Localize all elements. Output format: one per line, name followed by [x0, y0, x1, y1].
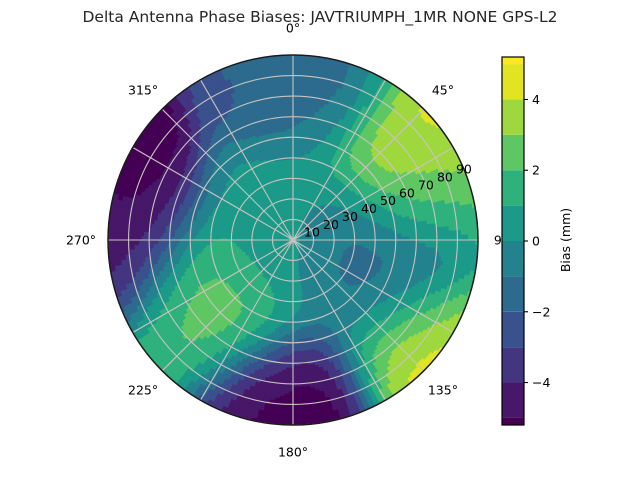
radial-label-10: 10 [304, 225, 320, 240]
colorbar-tick-label--2: −2 [532, 304, 550, 319]
colorbar-band-4 [502, 276, 524, 311]
azimuth-label-315: 315° [128, 83, 158, 98]
azimuth-label-270: 270° [66, 233, 96, 248]
colorbar-band-6 [502, 206, 524, 241]
page-title: Delta Antenna Phase Biases: JAVTRIUMPH_1… [83, 8, 558, 27]
colorbar-axis-label: Bias (mm) [558, 208, 573, 272]
colorbar-band-5 [502, 241, 524, 276]
colorbar-band-9 [502, 99, 524, 134]
colorbar-tick-label-2: 2 [532, 163, 540, 178]
colorbar-band-8 [502, 135, 524, 170]
azimuth-label-135: 135° [428, 382, 458, 397]
colorbar-band-7 [502, 170, 524, 205]
radial-label-40: 40 [361, 201, 377, 216]
azimuth-label-180: 180° [278, 445, 308, 460]
azimuth-label-45: 45° [432, 83, 454, 98]
colorbar-band-0 [502, 418, 524, 425]
polar-grid [108, 55, 478, 425]
azimuth-label-0: 0° [286, 21, 300, 36]
radial-label-60: 60 [399, 185, 415, 200]
radial-label-80: 80 [437, 170, 453, 185]
radial-label-30: 30 [342, 209, 358, 224]
colorbar-band-10 [502, 64, 524, 99]
radial-label-20: 20 [323, 217, 339, 232]
radial-label-90: 90 [456, 162, 472, 177]
colorbar-band-11 [502, 57, 524, 64]
colorbar-band-1 [502, 383, 524, 418]
colorbar-tick-label-0: 0 [532, 234, 540, 249]
colorbar-band-2 [502, 347, 524, 382]
colorbar-tick-label-4: 4 [532, 92, 540, 107]
colorbar-tick-label--4: −4 [532, 375, 550, 390]
radial-label-50: 50 [380, 193, 396, 208]
polar-contour-figure: Delta Antenna Phase Biases: JAVTRIUMPH_1… [0, 0, 640, 480]
radial-label-70: 70 [418, 177, 434, 192]
colorbar-band-3 [502, 312, 524, 347]
azimuth-label-225: 225° [128, 382, 158, 397]
